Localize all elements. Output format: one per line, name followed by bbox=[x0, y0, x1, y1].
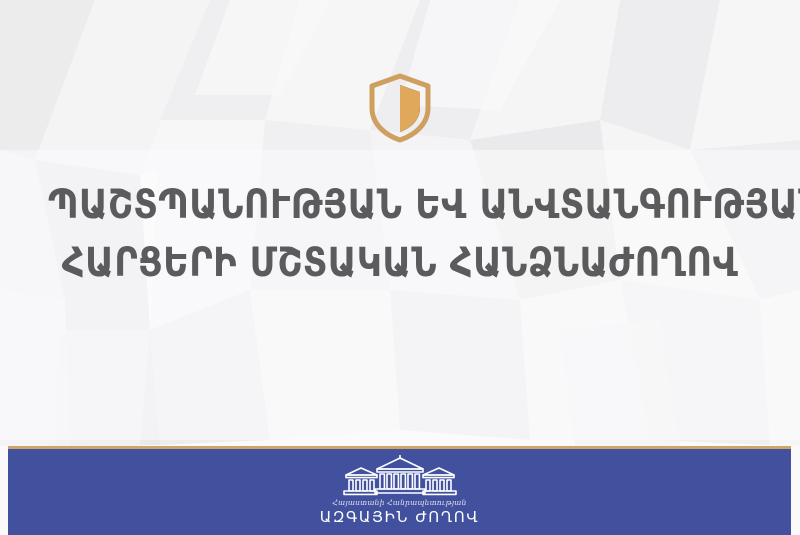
parliament-building-icon bbox=[341, 455, 459, 497]
title-line-1: ՊԱՇՏՊԱՆՈՒԹՅԱՆ ԵՎ ԱՆՎՏԱՆԳՈՒԹՅԱՆ bbox=[48, 176, 752, 234]
footer-bar: Հայաստանի Հանրապետության ԱԶԳԱՅԻՆ ԺՈՂՈՎ bbox=[8, 446, 791, 535]
shield-icon bbox=[368, 72, 432, 144]
title-line-2: ՀԱՐՑԵՐԻ ՄՇՏԱԿԱՆ ՀԱՆՁՆԱԺՈՂՈՎ bbox=[48, 234, 752, 292]
emblem-title: ԱԶԳԱՅԻՆ ԺՈՂՈՎ bbox=[320, 508, 480, 526]
page-title: ՊԱՇՏՊԱՆՈՒԹՅԱՆ ԵՎ ԱՆՎՏԱՆԳՈՒԹՅԱՆ ՀԱՐՑԵՐԻ Մ… bbox=[48, 176, 752, 292]
emblem-subtitle: Հայաստանի Հանրապետության bbox=[332, 498, 466, 507]
banner: ՊԱՇՏՊԱՆՈՒԹՅԱՆ ԵՎ ԱՆՎՏԱՆԳՈՒԹՅԱՆ ՀԱՐՑԵՐԻ Մ… bbox=[0, 0, 800, 535]
shield-logo bbox=[0, 72, 800, 144]
